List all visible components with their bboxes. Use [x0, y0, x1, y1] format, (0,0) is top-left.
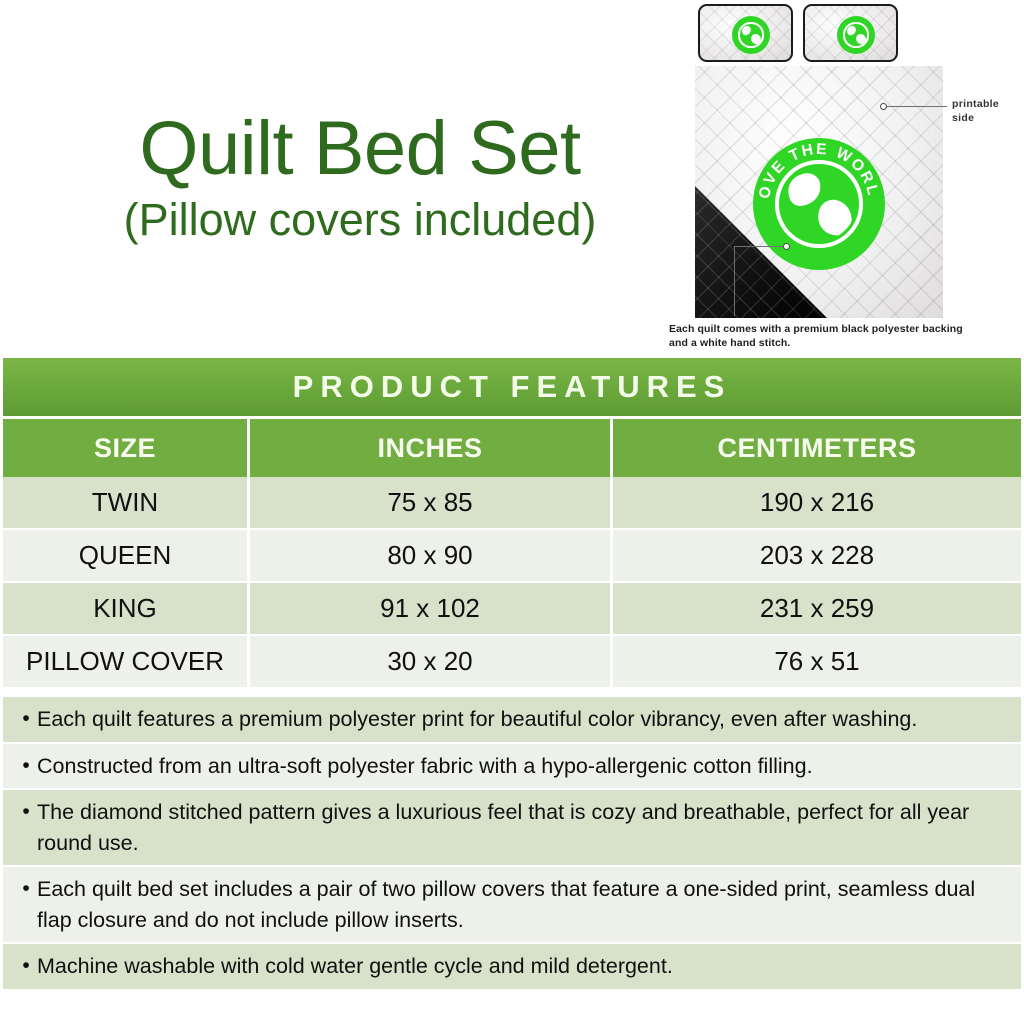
annotation-printable-side: printable side — [952, 98, 999, 125]
brand-logo-pillow-left — [732, 16, 770, 54]
cell-inches: 30 x 20 — [250, 636, 613, 689]
page-subtitle: (Pillow covers included) — [60, 196, 660, 243]
quilt-front: LOVE THE WORLD — [695, 66, 943, 318]
globe-icon — [782, 167, 856, 241]
annotation-printable-line1: printable — [952, 98, 999, 112]
table-header-row: SIZE INCHES CENTIMETERS — [3, 419, 1021, 477]
table-row: KING 91 x 102 231 x 259 — [3, 583, 1021, 636]
product-image: LOVE THE WORLD printable side Each quilt… — [660, 0, 1024, 358]
list-item-text: Each quilt bed set includes a pair of tw… — [37, 874, 1007, 935]
cell-inches: 80 x 90 — [250, 530, 613, 583]
leader-line-backing-vertical — [734, 246, 735, 316]
title-block: Quilt Bed Set (Pillow covers included) — [60, 112, 660, 244]
list-item-text: The diamond stitched pattern gives a lux… — [37, 797, 1007, 858]
backing-caption: Each quilt comes with a premium black po… — [669, 322, 969, 350]
cell-centimeters: 190 x 216 — [613, 477, 1021, 530]
cell-centimeters: 231 x 259 — [613, 583, 1021, 636]
product-features-table: PRODUCT FEATURES SIZE INCHES CENTIMETERS… — [0, 358, 1024, 689]
globe-icon — [740, 24, 761, 45]
table-banner-title: PRODUCT FEATURES — [3, 358, 1021, 416]
bullet-marker-icon: • — [15, 797, 37, 827]
list-item: • Machine washable with cold water gentl… — [3, 944, 1021, 991]
cell-centimeters: 203 x 228 — [613, 530, 1021, 583]
bullet-marker-icon: • — [15, 704, 37, 734]
brand-logo-pillow-right — [837, 16, 875, 54]
globe-icon — [845, 24, 866, 45]
cell-size: TWIN — [3, 477, 250, 530]
cell-centimeters: 76 x 51 — [613, 636, 1021, 689]
column-header-centimeters: CENTIMETERS — [613, 419, 1021, 477]
table-row: QUEEN 80 x 90 203 x 228 — [3, 530, 1021, 583]
cell-inches: 75 x 85 — [250, 477, 613, 530]
cell-size: PILLOW COVER — [3, 636, 250, 689]
table-row: TWIN 75 x 85 190 x 216 — [3, 477, 1021, 530]
annotation-printable-line2: side — [952, 112, 999, 126]
list-item: • Each quilt bed set includes a pair of … — [3, 867, 1021, 944]
pillow-right — [803, 4, 898, 62]
pillow-left — [698, 4, 793, 62]
cell-size: QUEEN — [3, 530, 250, 583]
page-title: Quilt Bed Set — [60, 112, 660, 186]
leader-line-printable — [885, 106, 947, 107]
column-header-size: SIZE — [3, 419, 250, 477]
cell-inches: 91 x 102 — [250, 583, 613, 636]
column-header-inches: INCHES — [250, 419, 613, 477]
list-item: • Each quilt features a premium polyeste… — [3, 697, 1021, 744]
brand-logo-quilt: LOVE THE WORLD — [753, 138, 885, 270]
list-item: • Constructed from an ultra-soft polyest… — [3, 744, 1021, 791]
bullet-marker-icon: • — [15, 874, 37, 904]
list-item: • The diamond stitched pattern gives a l… — [3, 790, 1021, 867]
cell-size: KING — [3, 583, 250, 636]
marker-dot-printable — [880, 103, 887, 110]
list-item-text: Constructed from an ultra-soft polyester… — [37, 751, 1007, 782]
list-item-text: Each quilt features a premium polyester … — [37, 704, 1007, 735]
list-item-text: Machine washable with cold water gentle … — [37, 951, 1007, 982]
feature-bullet-list: • Each quilt features a premium polyeste… — [0, 697, 1024, 991]
bullet-marker-icon: • — [15, 951, 37, 981]
leader-line-backing-horizontal — [734, 246, 784, 247]
hero-section: Quilt Bed Set (Pillow covers included) — [0, 0, 1024, 358]
table-row: PILLOW COVER 30 x 20 76 x 51 — [3, 636, 1021, 689]
bullet-marker-icon: • — [15, 751, 37, 781]
marker-dot-backing — [783, 243, 790, 250]
